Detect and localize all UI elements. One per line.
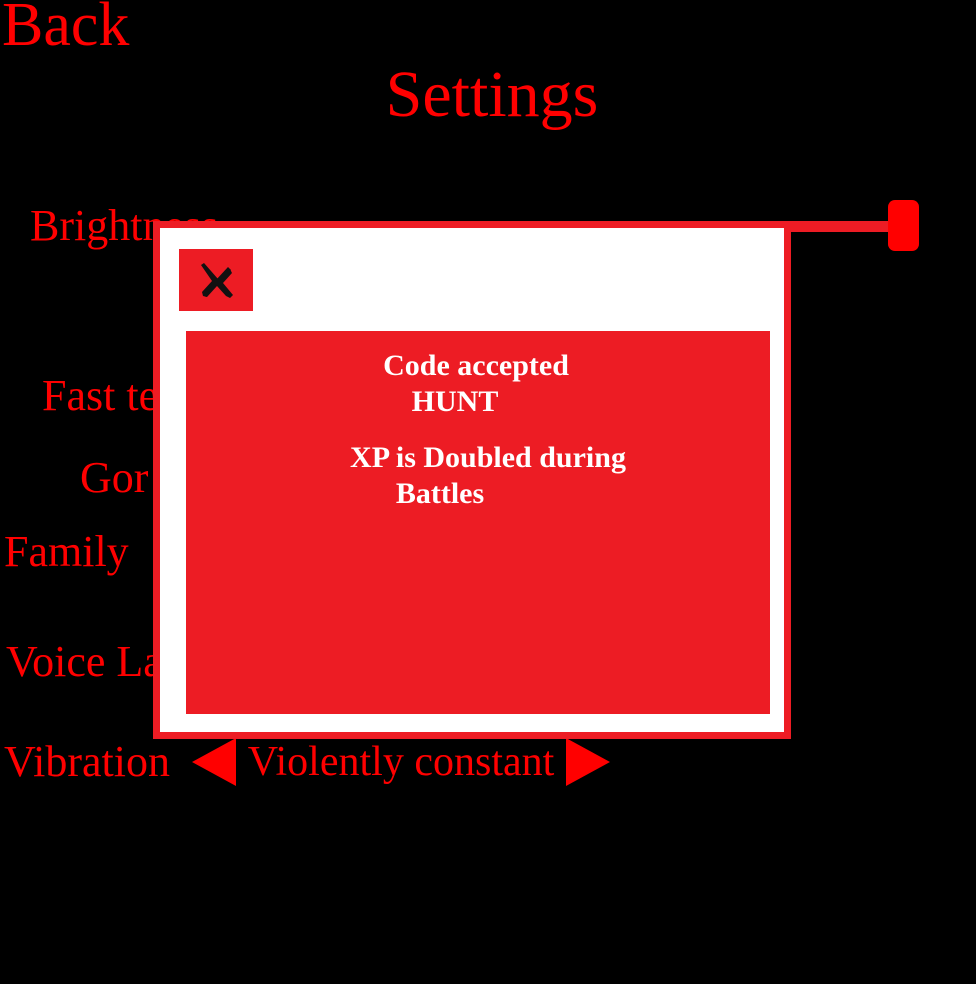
vibration-stepper: Violently constant xyxy=(192,738,610,786)
code-accepted-dialog: Code accepted HUNT XP is Doubled during … xyxy=(153,221,791,739)
dialog-close-button[interactable] xyxy=(179,249,253,311)
setting-label-voice-language: Voice La xyxy=(6,640,163,684)
settings-screen: Back Settings Brightness Fast te Gor Fam… xyxy=(0,0,976,984)
setting-label-family-mode: Family xyxy=(4,530,129,574)
dialog-detail-block: XP is Doubled during Battles xyxy=(186,440,770,512)
dialog-detail-line-1: XP is Doubled during xyxy=(196,440,780,476)
dialog-message-panel: Code accepted HUNT XP is Doubled during … xyxy=(186,331,770,714)
close-x-icon xyxy=(192,258,240,302)
dialog-detail-line-2: Battles xyxy=(148,476,732,512)
dialog-message-line-2: HUNT xyxy=(163,384,747,420)
setting-label-vibration: Vibration xyxy=(4,740,170,784)
dialog-message-line-1: Code accepted xyxy=(184,348,768,384)
triangle-left-icon[interactable] xyxy=(192,738,236,786)
setting-label-fast-text: Fast te xyxy=(42,374,158,418)
setting-label-gore: Gor xyxy=(80,456,148,500)
triangle-right-icon[interactable] xyxy=(566,738,610,786)
brightness-slider-thumb[interactable] xyxy=(888,200,919,251)
vibration-value: Violently constant xyxy=(236,741,566,783)
setting-row-vibration[interactable]: Vibration Violently constant xyxy=(0,734,976,790)
